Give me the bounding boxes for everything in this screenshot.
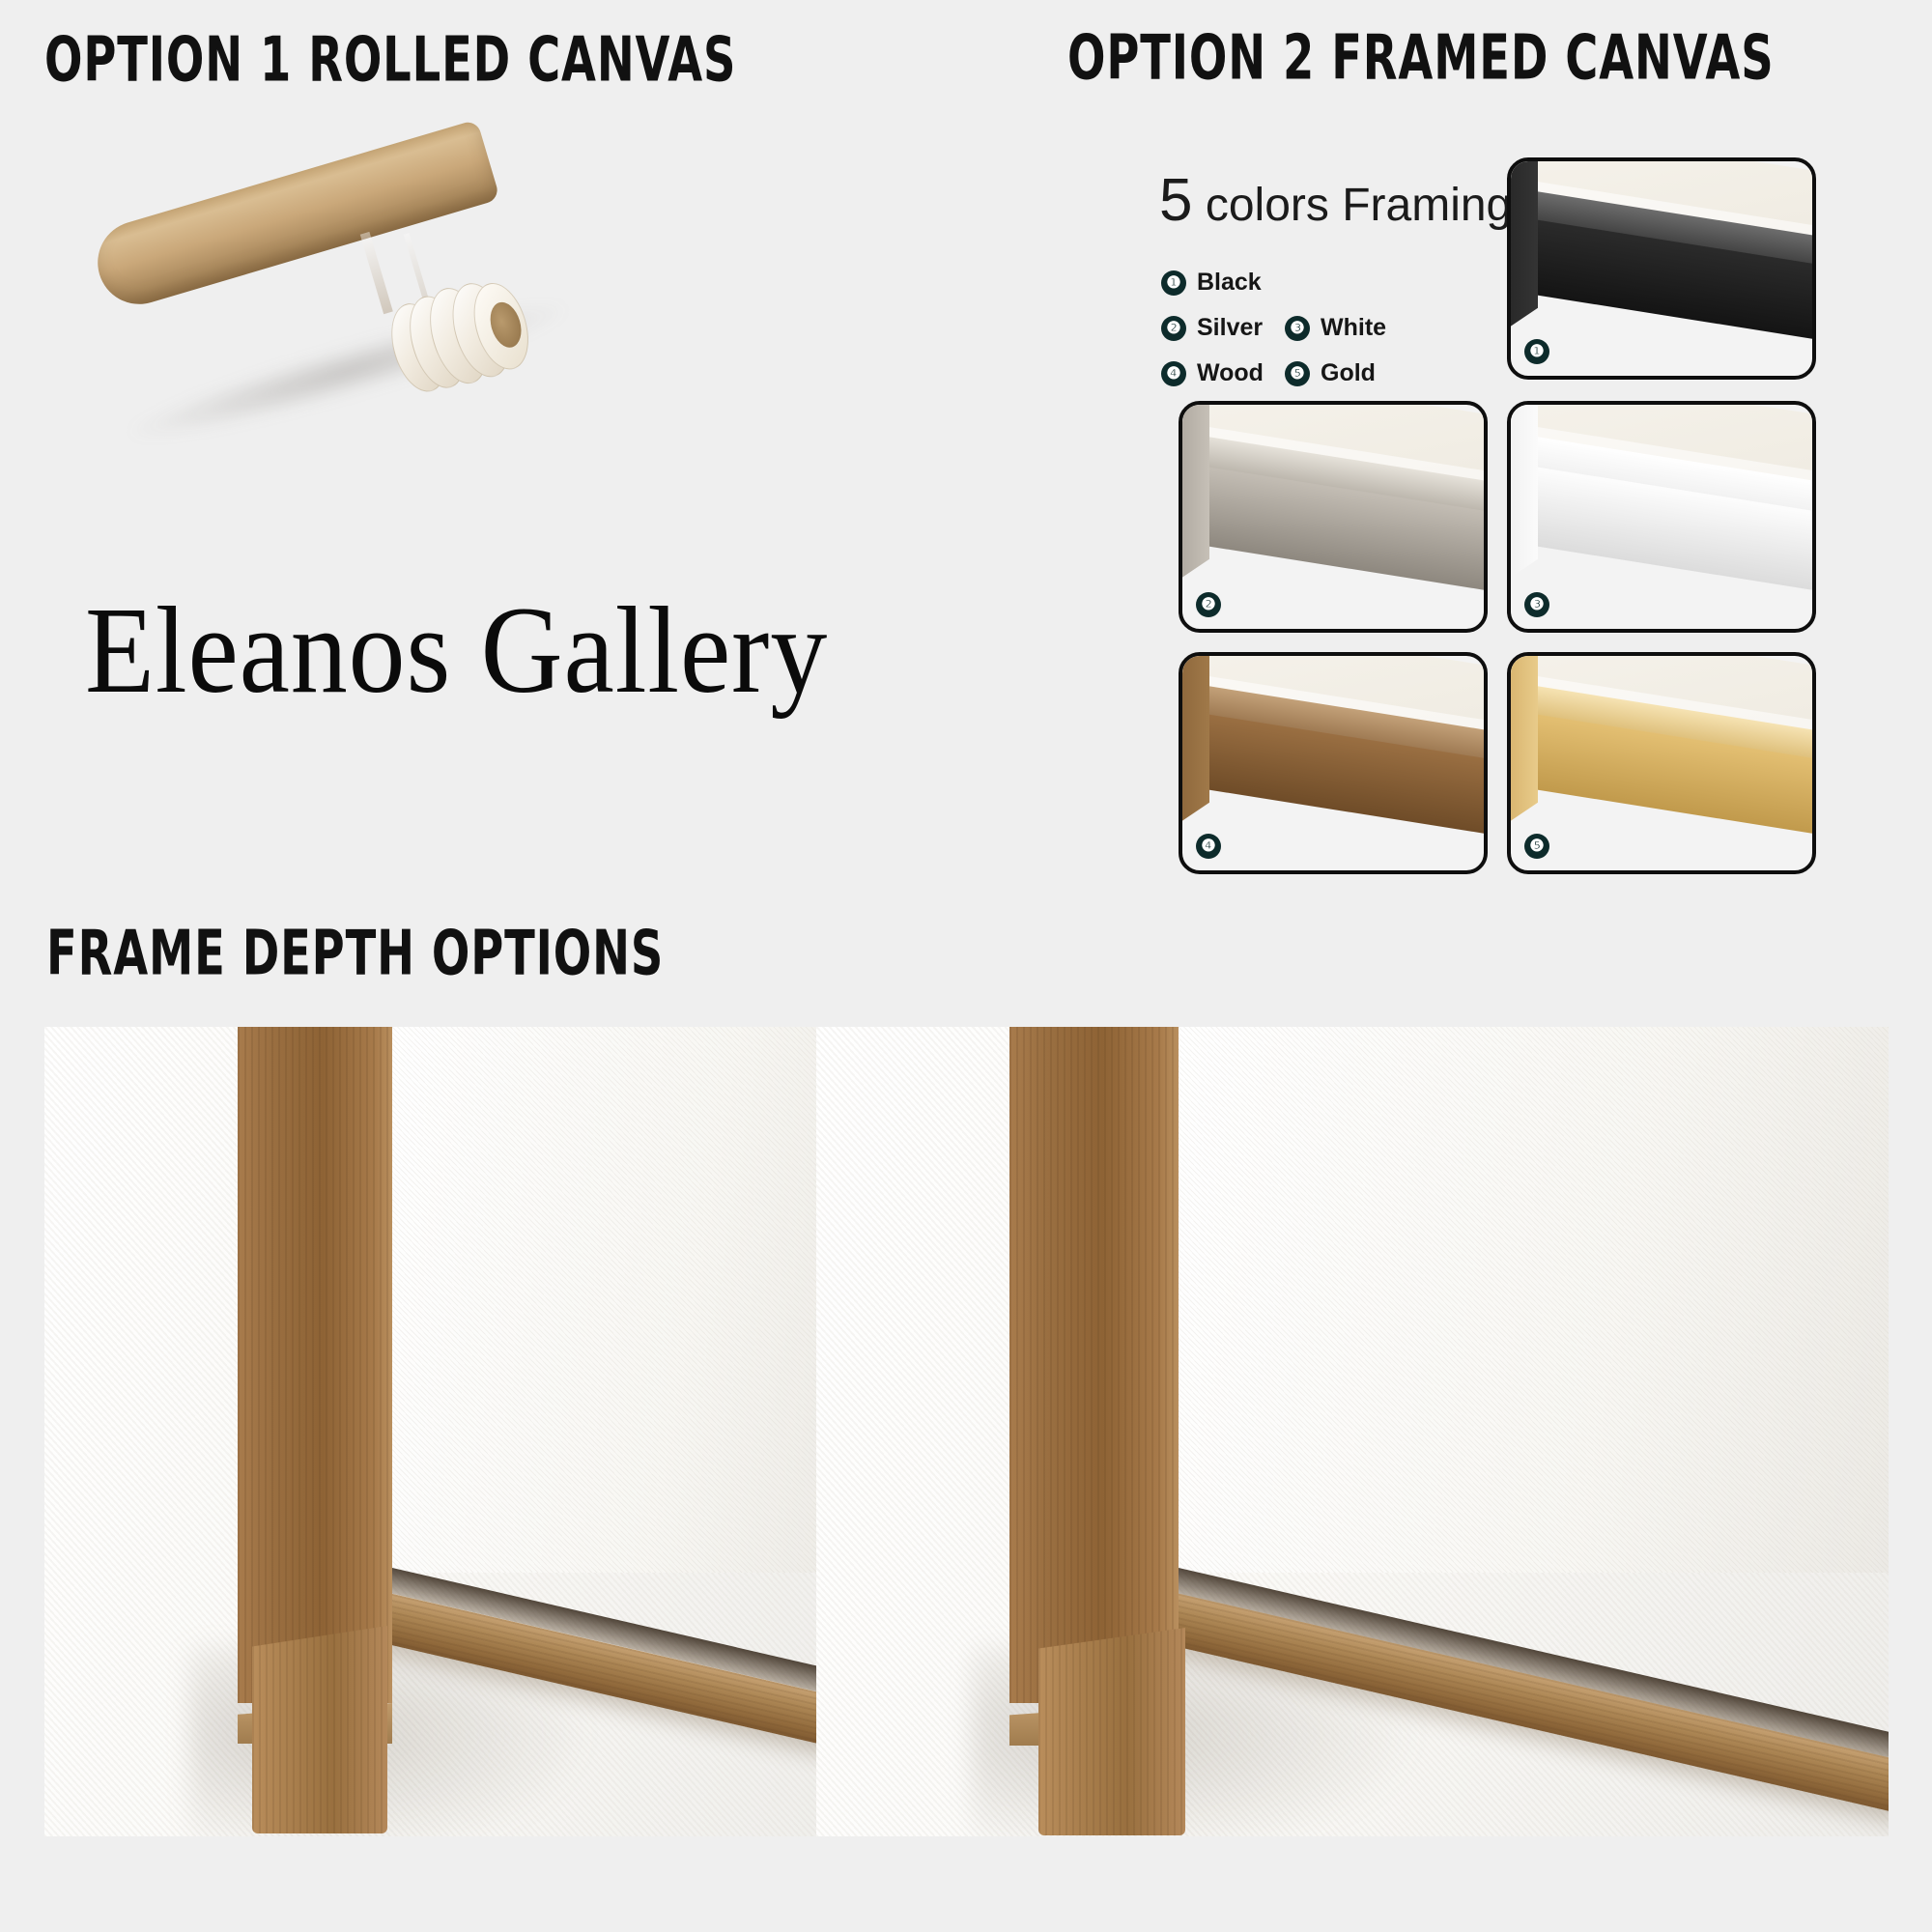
depth-photo-panel-2: 1.6 Inch (4.0 CM) 0.2 Inch (0.6 CM) [816,1027,1889,1836]
frame-side-rail [238,1027,392,1703]
rolled-canvas-tube-photo [82,159,642,449]
frame-swatch-white[interactable]: ❸ [1507,401,1816,633]
canvas-surface [1179,1027,1889,1573]
badge-number-icon: ❺ [1285,361,1310,386]
legend-row: ❶ Black [1161,269,1480,297]
frame-rail-leg [1179,401,1209,597]
framing-colors-title: 5 colors Framing [1159,166,1512,235]
legend-row: ❹ Wood ❺ Gold [1161,359,1480,387]
legend-label: Gold [1321,359,1376,387]
frame-corner-illustration [1507,157,1816,372]
legend-label: White [1321,314,1386,342]
mailing-tube [88,119,500,314]
badge-number-icon: ❺ [1524,834,1549,859]
badge-number-icon: ❸ [1285,316,1310,341]
badge-number-icon: ❶ [1161,270,1186,296]
depth-photo-panel-1: 1.4 Inch (3.5 CM) 0.2 Inch (0.6 CM) [44,1027,870,1836]
frame-corner-block [252,1626,387,1833]
frame-rail-leg [1507,652,1538,841]
rolled-canvas [381,267,549,411]
frame-side-rail [1009,1027,1179,1703]
frame-swatch-silver[interactable]: ❷ [1179,401,1488,633]
legend-item-gold: ❺ Gold [1285,359,1408,387]
legend-item-silver: ❷ Silver [1161,314,1285,342]
legend-label: Black [1197,269,1262,297]
heading-frame-depth-options: FRAME DEPTH OPTIONS [46,917,664,988]
frame-corner-illustration [1507,652,1816,867]
heading-option-2-framed-canvas: OPTION 2 FRAMED CANVAS [1067,21,1775,93]
legend-label: Wood [1197,359,1264,387]
legend-item-white: ❸ White [1285,314,1408,342]
frame-rail-leg [1507,401,1538,597]
frame-swatch-gold[interactable]: ❺ [1507,652,1816,874]
badge-number-icon: ❹ [1161,361,1186,386]
badge-number-icon: ❷ [1161,316,1186,341]
badge-number-icon: ❷ [1196,592,1221,617]
legend-item-wood: ❹ Wood [1161,359,1285,387]
badge-number-icon: ❹ [1196,834,1221,859]
frame-rail-leg [1179,652,1209,841]
badge-number-icon: ❶ [1524,339,1549,364]
framing-colors-legend: ❶ Black ❷ Silver ❸ White ❹ Wood ❺ Gold [1161,269,1480,405]
legend-row: ❷ Silver ❸ White [1161,314,1480,342]
framing-colors-count: 5 [1159,167,1192,234]
legend-label: Silver [1197,314,1263,342]
frame-swatch-wood[interactable]: ❹ [1179,652,1488,874]
canvas-surface [392,1027,870,1573]
frame-corner-illustration [1179,401,1488,624]
frame-corner-illustration [1179,652,1488,867]
frame-corner-illustration [1507,401,1816,624]
frame-swatch-black[interactable]: ❶ [1507,157,1816,380]
frame-rail-leg [1507,157,1538,347]
tube-seam-band [360,232,393,314]
badge-number-icon: ❸ [1524,592,1549,617]
legend-item-black: ❶ Black [1161,269,1285,297]
brand-wordmark: Eleanos Gallery [85,580,828,722]
framing-colors-title-rest: colors Framing [1206,180,1512,231]
frame-corner-block [1038,1628,1185,1835]
heading-option-1-rolled-canvas: OPTION 1 ROLLED CANVAS [44,23,736,95]
